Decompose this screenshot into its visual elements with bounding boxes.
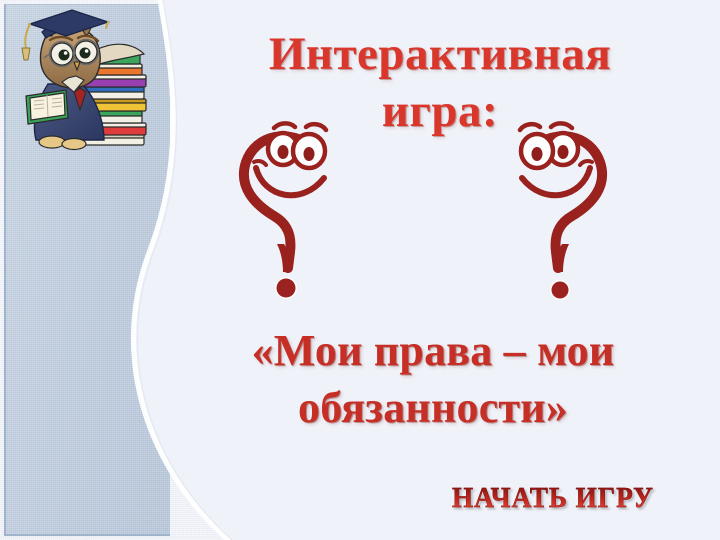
start-game-button[interactable]: НАЧАТЬ ИГРУ — [452, 484, 654, 513]
owl-scholar-icon — [8, 6, 158, 158]
game-subtitle: «Мои права – мои обязанности» — [155, 322, 711, 436]
presentation-slide: Интерактивная игра: — [0, 0, 720, 540]
smiling-question-mark-mirrored-icon — [506, 112, 616, 307]
smiling-question-mark-icon — [230, 112, 340, 307]
